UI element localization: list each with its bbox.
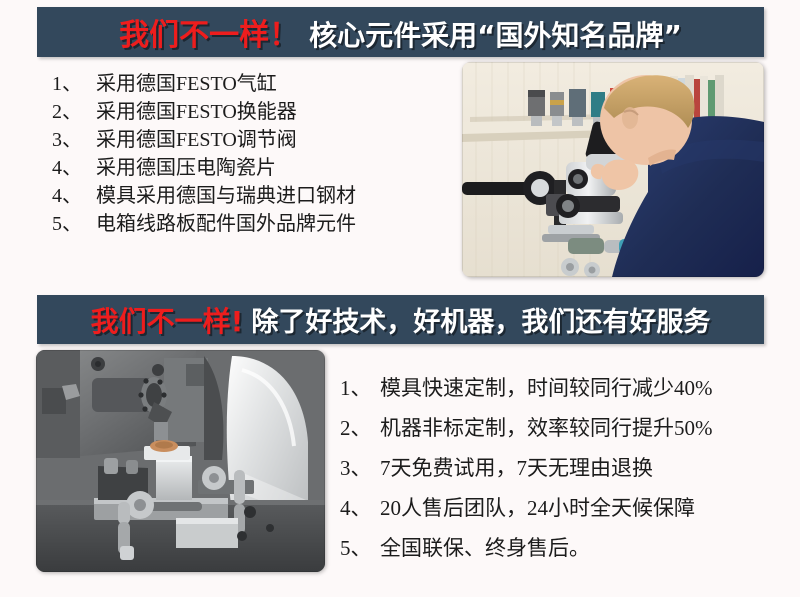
list-item-number: 3、 (52, 126, 96, 154)
list-item-label: 20人售后团队，24小时全天候保障 (380, 488, 695, 528)
list-item: 1、 采用德国FESTO气缸 (52, 70, 356, 98)
list-item: 5、 电箱线路板配件国外品牌元件 (52, 210, 356, 238)
list-item-label: 模具采用德国与瑞典进口钢材 (96, 182, 356, 210)
list-item: 1、 模具快速定制，时间较同行减少40% (340, 368, 713, 408)
list-item-number: 4、 (52, 154, 96, 182)
banner-bottom-highlight: 我们不一样! (91, 300, 244, 340)
list-item-number: 5、 (52, 210, 96, 238)
banner-bottom: 我们不一样! 除了好技术，好机器，我们还有好服务 (37, 295, 764, 344)
promo-page: 我们不一样！ 核心元件采用“国外知名品牌” 1、 采用德国FESTO气缸 2、 … (0, 0, 800, 597)
list-item-number: 2、 (340, 408, 380, 448)
list-item-label: 采用德国FESTO调节阀 (96, 126, 297, 154)
list-item-number: 3、 (340, 448, 380, 488)
banner-top-headline: 核心元件采用“国外知名品牌” (309, 14, 682, 54)
banner-bottom-inner: 我们不一样! 除了好技术，好机器，我们还有好服务 (91, 300, 711, 340)
list-item-label: 模具快速定制，时间较同行减少40% (380, 368, 713, 408)
list-item: 4、 采用德国压电陶瓷片 (52, 154, 356, 182)
list-item-label: 采用德国FESTO气缸 (96, 70, 277, 98)
microscope-inspection-illustration (462, 62, 764, 277)
list-item-label: 电箱线路板配件国外品牌元件 (96, 210, 356, 238)
list-item-label: 7天免费试用，7天无理由退换 (380, 448, 653, 488)
machine-tooling-photo (36, 350, 325, 572)
list-item-number: 2、 (52, 98, 96, 126)
list-item: 5、 全国联保、终身售后。 (340, 528, 713, 568)
list-item-number: 5、 (340, 528, 380, 568)
banner-bottom-headline: 除了好技术，好机器，我们还有好服务 (251, 300, 710, 339)
list-item: 2、 采用德国FESTO换能器 (52, 98, 356, 126)
microscope-inspection-photo (462, 62, 764, 277)
banner-top-inner: 我们不一样！ 核心元件采用“国外知名品牌” (119, 10, 682, 54)
list-item: 4、 20人售后团队，24小时全天候保障 (340, 488, 713, 528)
list-item-number: 4、 (52, 182, 96, 210)
feature-list-services: 1、 模具快速定制，时间较同行减少40% 2、 机器非标定制，效率较同行提升50… (340, 368, 713, 568)
list-item-number: 1、 (340, 368, 380, 408)
list-item-label: 采用德国FESTO换能器 (96, 98, 297, 126)
banner-top: 我们不一样！ 核心元件采用“国外知名品牌” (37, 7, 764, 57)
list-item-label: 全国联保、终身售后。 (380, 528, 590, 568)
list-item: 3、 采用德国FESTO调节阀 (52, 126, 356, 154)
list-item-label: 机器非标定制，效率较同行提升50% (380, 408, 713, 448)
list-item-number: 1、 (52, 70, 96, 98)
list-item: 2、 机器非标定制，效率较同行提升50% (340, 408, 713, 448)
list-item: 4、 模具采用德国与瑞典进口钢材 (52, 182, 356, 210)
list-item: 3、 7天免费试用，7天无理由退换 (340, 448, 713, 488)
banner-top-highlight: 我们不一样！ (119, 10, 299, 54)
list-item-number: 4、 (340, 488, 380, 528)
feature-list-components: 1、 采用德国FESTO气缸 2、 采用德国FESTO换能器 3、 采用德国FE… (52, 70, 356, 238)
machine-tooling-illustration (36, 350, 325, 572)
list-item-label: 采用德国压电陶瓷片 (96, 154, 276, 182)
